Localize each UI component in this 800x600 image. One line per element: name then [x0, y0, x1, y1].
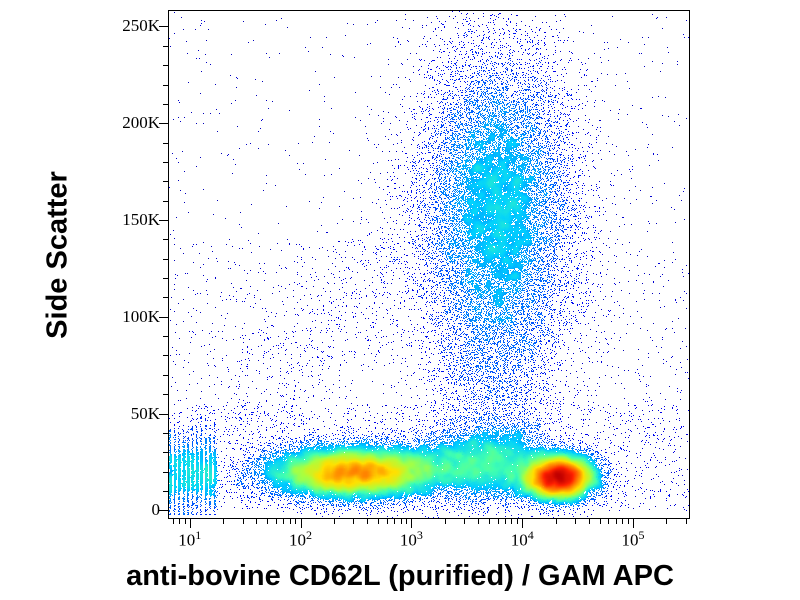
x-tick-minor — [267, 519, 268, 524]
x-tick-minor — [394, 519, 395, 524]
x-tick-minor — [608, 519, 609, 524]
x-tick-minor — [276, 519, 277, 524]
x-tick-minor — [179, 519, 180, 524]
x-tick-minor — [223, 519, 224, 524]
y-tick-major — [159, 317, 168, 318]
x-tick-minor — [575, 519, 576, 524]
x-tick-minor — [406, 519, 407, 524]
x-tick-minor — [589, 519, 590, 524]
x-tick-minor — [290, 519, 291, 524]
x-tick-minor — [378, 519, 379, 524]
y-axis-title: Side Scatter — [42, 135, 75, 375]
x-tick-minor — [556, 519, 557, 524]
y-tick-label: 100K — [122, 308, 160, 325]
x-tick-minor — [517, 519, 518, 524]
x-tick-major — [633, 519, 634, 528]
x-tick-minor — [616, 519, 617, 524]
x-tick-minor — [478, 519, 479, 524]
x-tick-minor — [401, 519, 402, 524]
x-axis-title: anti-bovine CD62L (purified) / GAM APC — [0, 560, 800, 593]
x-tick-minor — [686, 519, 687, 524]
x-tick-minor — [283, 519, 284, 524]
x-tick-minor — [511, 519, 512, 524]
x-tick-major — [190, 519, 191, 528]
x-tick-minor — [464, 519, 465, 524]
x-tick-label: 105 — [622, 528, 645, 551]
x-tick-minor — [666, 519, 667, 524]
x-tick-minor — [367, 519, 368, 524]
x-tick-minor — [628, 519, 629, 524]
x-tick-major — [301, 519, 302, 528]
y-tick-label: 250K — [122, 17, 160, 34]
x-tick-minor — [295, 519, 296, 524]
x-tick-major — [522, 519, 523, 528]
x-tick-minor — [334, 519, 335, 524]
y-tick-label: 200K — [122, 114, 160, 131]
x-tick-minor — [622, 519, 623, 524]
y-tick-major — [159, 510, 168, 511]
plot-area — [168, 10, 690, 519]
x-tick-minor — [185, 519, 186, 524]
flow-cytometry-figure: 050K100K150K200K250K 101102103104105 Sid… — [0, 0, 800, 600]
x-tick-minor — [498, 519, 499, 524]
scatter-density-canvas — [169, 11, 689, 518]
x-tick-minor — [256, 519, 257, 524]
y-tick-major — [159, 26, 168, 27]
x-tick-label: 104 — [511, 528, 534, 551]
x-tick-minor — [387, 519, 388, 524]
x-tick-label: 102 — [289, 528, 312, 551]
x-tick-major — [411, 519, 412, 528]
x-tick-minor — [489, 519, 490, 524]
y-tick-major — [159, 220, 168, 221]
y-tick-label: 150K — [122, 211, 160, 228]
x-tick-minor — [445, 519, 446, 524]
x-tick-minor — [505, 519, 506, 524]
x-tick-minor — [173, 519, 174, 524]
x-tick-minor — [243, 519, 244, 524]
x-tick-label: 103 — [400, 528, 423, 551]
x-tick-minor — [600, 519, 601, 524]
y-axis-tick-labels: 050K100K150K200K250K — [60, 0, 160, 540]
y-tick-major — [159, 414, 168, 415]
y-tick-label: 50K — [131, 405, 160, 422]
x-tick-minor — [353, 519, 354, 524]
y-tick-major — [159, 123, 168, 124]
x-tick-label: 101 — [178, 528, 201, 551]
y-tick-label: 0 — [152, 501, 161, 518]
